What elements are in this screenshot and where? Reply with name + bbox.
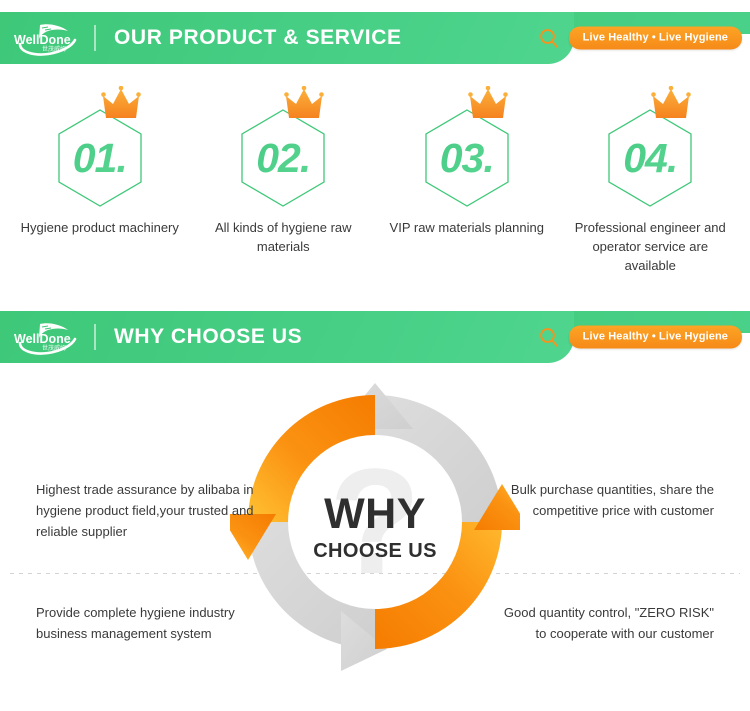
banner-divider [94, 324, 96, 350]
welldone-logo[interactable]: WellDone 世茂威姆 [12, 317, 84, 357]
top-spacer [0, 0, 750, 12]
feature-item: 04. Professional engineer and operator s… [559, 86, 743, 275]
hexagon-badge: 02. [223, 86, 343, 208]
banner-our-product-service: WellDone 世茂威姆 OUR PRODUCT & SERVICE Live… [0, 12, 750, 64]
search-icon[interactable] [538, 326, 560, 348]
feature-caption: All kinds of hygiene raw materials [199, 218, 367, 256]
section-spacer [0, 275, 750, 311]
page-root: WellDone 世茂威姆 OUR PRODUCT & SERVICE Live… [0, 0, 750, 711]
feature-list: 01. Hygiene product machinery [0, 64, 750, 275]
section-title: WHY CHOOSE US [114, 325, 302, 349]
question-mark-watermark: ? [329, 437, 421, 605]
svg-text:WellDone: WellDone [14, 33, 71, 47]
banner-badge-group: Live Healthy • Live Hygiene [538, 27, 742, 50]
section-our-product-service: WellDone 世茂威姆 OUR PRODUCT & SERVICE Live… [0, 12, 750, 275]
tagline-badge[interactable]: Live Healthy • Live Hygiene [569, 27, 742, 50]
hexagon-badge: 01. [40, 86, 160, 208]
hexagon-number: 03. [407, 86, 527, 208]
feature-item: 02. All kinds of hygiene raw materials [192, 86, 376, 275]
hexagon-number: 02. [223, 86, 343, 208]
why-diagram: ? WHY CHOOSE US [230, 377, 520, 677]
section-why-choose-us: WellDone 世茂威姆 WHY CHOOSE US Live Healthy… [0, 311, 750, 685]
feature-item: 03. VIP raw materials planning [375, 86, 559, 275]
hexagon-number: 04. [590, 86, 710, 208]
hexagon-number: 01. [40, 86, 160, 208]
tagline-badge[interactable]: Live Healthy • Live Hygiene [569, 326, 742, 349]
feature-item: 01. Hygiene product machinery [8, 86, 192, 275]
feature-caption: Hygiene product machinery [21, 218, 179, 237]
svg-text:世茂威姆: 世茂威姆 [42, 45, 66, 53]
hexagon-badge: 04. [590, 86, 710, 208]
feature-caption: VIP raw materials planning [390, 218, 544, 237]
why-point-bottom-right: Good quantity control, "ZERO RISK" to co… [496, 602, 714, 644]
feature-caption: Professional engineer and operator servi… [566, 218, 734, 275]
banner-divider [94, 25, 96, 51]
svg-text:WellDone: WellDone [14, 332, 71, 346]
why-point-top-left: Highest trade assurance by alibaba in hy… [36, 479, 254, 542]
why-point-top-right: Bulk purchase quantities, share the comp… [496, 479, 714, 521]
why-point-bottom-left: Provide complete hygiene industry busine… [36, 602, 254, 644]
section-title: OUR PRODUCT & SERVICE [114, 26, 402, 50]
svg-text:世茂威姆: 世茂威姆 [42, 344, 66, 352]
welldone-logo[interactable]: WellDone 世茂威姆 [12, 18, 84, 58]
hexagon-badge: 03. [407, 86, 527, 208]
search-icon[interactable] [538, 27, 560, 49]
banner-badge-group: Live Healthy • Live Hygiene [538, 326, 742, 349]
circular-arrows-icon: ? [230, 377, 520, 677]
banner-why-choose-us: WellDone 世茂威姆 WHY CHOOSE US Live Healthy… [0, 311, 750, 363]
why-choose-us-body: ? WHY CHOOSE US [0, 363, 750, 685]
